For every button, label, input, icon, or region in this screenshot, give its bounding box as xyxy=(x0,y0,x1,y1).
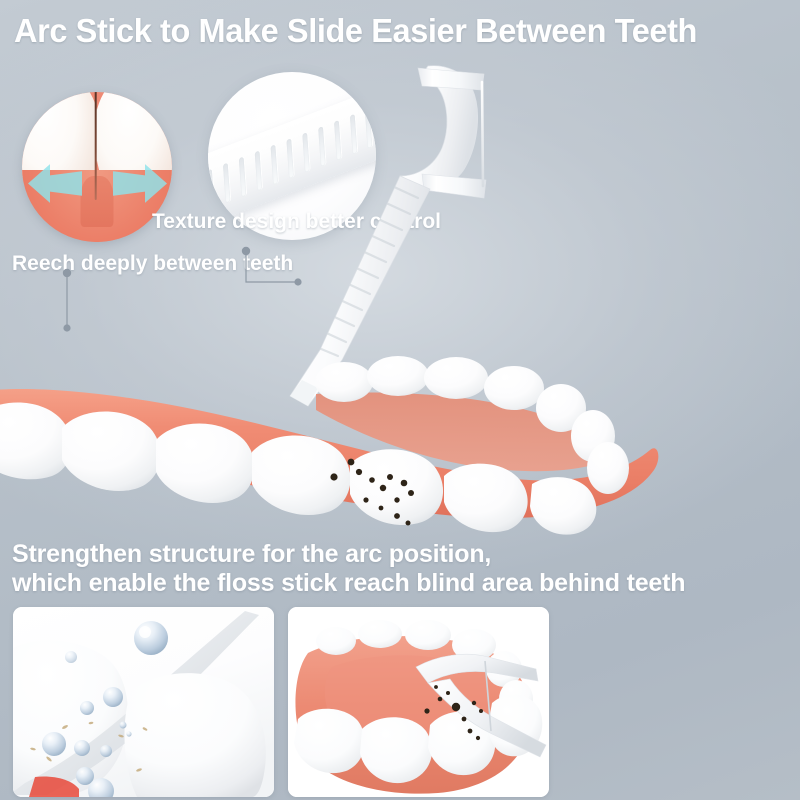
handle-rib xyxy=(334,121,341,161)
handle-rib xyxy=(208,170,215,210)
arc-head-top-bar xyxy=(418,68,484,90)
interdental-gap xyxy=(95,92,98,200)
arc-head-arm xyxy=(400,66,478,189)
arc-head-bottom-bar xyxy=(422,174,486,198)
infographic-canvas: Arc Stick to Make Slide Easier Between T… xyxy=(0,0,800,800)
handle-rib xyxy=(286,139,293,179)
handle-rib xyxy=(302,133,309,173)
handle-rib xyxy=(318,127,325,167)
floss-string xyxy=(482,82,483,186)
arrows-between-teeth-icon xyxy=(22,92,172,242)
callout-label-texture: Texture design better control xyxy=(152,210,441,234)
arrow-right-icon xyxy=(111,158,171,209)
handle-rib xyxy=(365,109,372,149)
bottom-headline-line1: Strengthen structure for the arc positio… xyxy=(12,540,491,568)
arrow-left-icon xyxy=(24,158,84,209)
panel-arch-reach[interactable] xyxy=(288,607,549,797)
handle-rib xyxy=(350,115,357,155)
page-title: Arc Stick to Make Slide Easier Between T… xyxy=(14,12,780,50)
handle-rib xyxy=(223,163,230,203)
panel-droplet-closeup[interactable] xyxy=(13,607,274,797)
bottom-headline: Strengthen structure for the arc positio… xyxy=(12,540,792,598)
handle-rib xyxy=(255,151,262,191)
handle-rib xyxy=(271,145,278,185)
lower-jaw-illustration xyxy=(0,272,666,532)
handle-rib xyxy=(239,157,246,197)
bottom-headline-line2: which enable the floss stick reach blind… xyxy=(12,569,792,598)
